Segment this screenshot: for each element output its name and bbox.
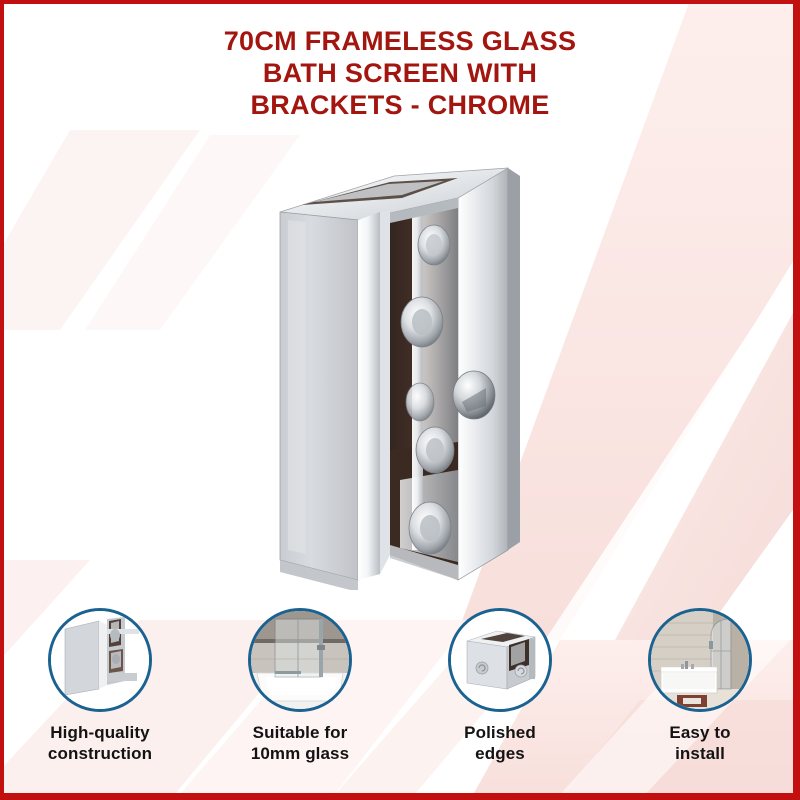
title-line-1: 70CM FRAMELESS GLASS (0, 26, 800, 58)
title-line-3: BRACKETS - CHROME (0, 90, 800, 122)
feature-label-2: Suitable for 10mm glass (251, 722, 349, 765)
feature-item-polished-edges: Polished edges (400, 608, 600, 788)
feature-icon-circle-1 (48, 608, 152, 712)
feature-list: High-quality construction (0, 608, 800, 788)
bath-screen-installed-icon (251, 611, 349, 709)
feature-label-1-line1: High-quality (50, 723, 149, 742)
feature-icon-circle-3 (448, 608, 552, 712)
bathroom-install-icon (651, 611, 749, 709)
feature-label-2-line1: Suitable for (253, 723, 348, 742)
feature-label-1-line2: construction (48, 743, 152, 764)
feature-item-easy-to-install: Easy to install (600, 608, 800, 788)
feature-item-suitable-for-10mm-glass: Suitable for 10mm glass (200, 608, 400, 788)
title-line-2: BATH SCREEN WITH (0, 58, 800, 90)
bath-screen-bracket-icon (262, 150, 542, 590)
feature-label-4-line2: install (669, 743, 730, 764)
feature-label-4-line1: Easy to (669, 723, 730, 742)
feature-icon-circle-2 (248, 608, 352, 712)
feature-icon-circle-4 (648, 608, 752, 712)
product-listing-image: 70CM FRAMELESS GLASS BATH SCREEN WITH BR… (0, 0, 800, 800)
feature-item-high-quality-construction: High-quality construction (0, 608, 200, 788)
polished-bracket-icon (451, 611, 549, 709)
feature-label-3-line1: Polished (464, 723, 536, 742)
feature-label-1: High-quality construction (48, 722, 152, 765)
feature-label-3: Polished edges (464, 722, 536, 765)
feature-label-3-line2: edges (464, 743, 536, 764)
bracket-closeup-icon (51, 611, 149, 709)
feature-label-2-line2: 10mm glass (251, 743, 349, 764)
page-title: 70CM FRAMELESS GLASS BATH SCREEN WITH BR… (0, 26, 800, 122)
hero-product-image (262, 150, 542, 590)
feature-label-4: Easy to install (669, 722, 730, 765)
